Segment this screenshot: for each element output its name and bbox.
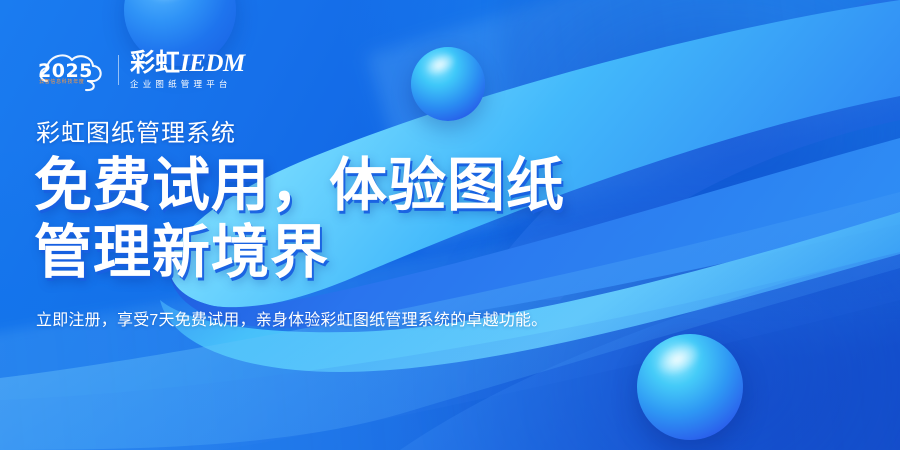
brand-logo[interactable]: 2025 云智信息科技年度 彩虹IEDM 企业图纸管理平台 xyxy=(36,46,245,94)
eyebrow-title: 彩虹图纸管理系统 xyxy=(36,113,236,148)
logo-year-mark: 2025 云智信息科技年度 xyxy=(36,47,110,93)
subcopy-paragraph: 立即注册，享受7天免费试用，亲身体验彩虹图纸管理系统的卓越功能。 xyxy=(36,308,621,334)
sphere-decoration-lower-right xyxy=(637,334,743,440)
logo-brand-line: 彩虹IEDM xyxy=(130,51,245,76)
logo-year-tagline: 云智信息科技年度 xyxy=(39,80,85,85)
vertical-divider-icon xyxy=(118,55,119,85)
promo-banner: 2025 云智信息科技年度 彩虹IEDM 企业图纸管理平台 彩虹图纸管理系统 免… xyxy=(0,0,900,450)
logo-brand-latin: IEDM xyxy=(180,50,245,77)
headline-line-1: 免费试用，体验图纸 xyxy=(34,152,714,219)
sphere-decoration-middle xyxy=(411,47,485,121)
headline-line-2: 管理新境界 xyxy=(34,219,714,286)
logo-wordmark: 彩虹IEDM 企业图纸管理平台 xyxy=(130,51,245,89)
logo-brand-cn: 彩虹 xyxy=(130,49,180,77)
logo-brand-subtitle: 企业图纸管理平台 xyxy=(130,80,245,89)
headline: 免费试用，体验图纸 管理新境界 xyxy=(34,152,714,287)
